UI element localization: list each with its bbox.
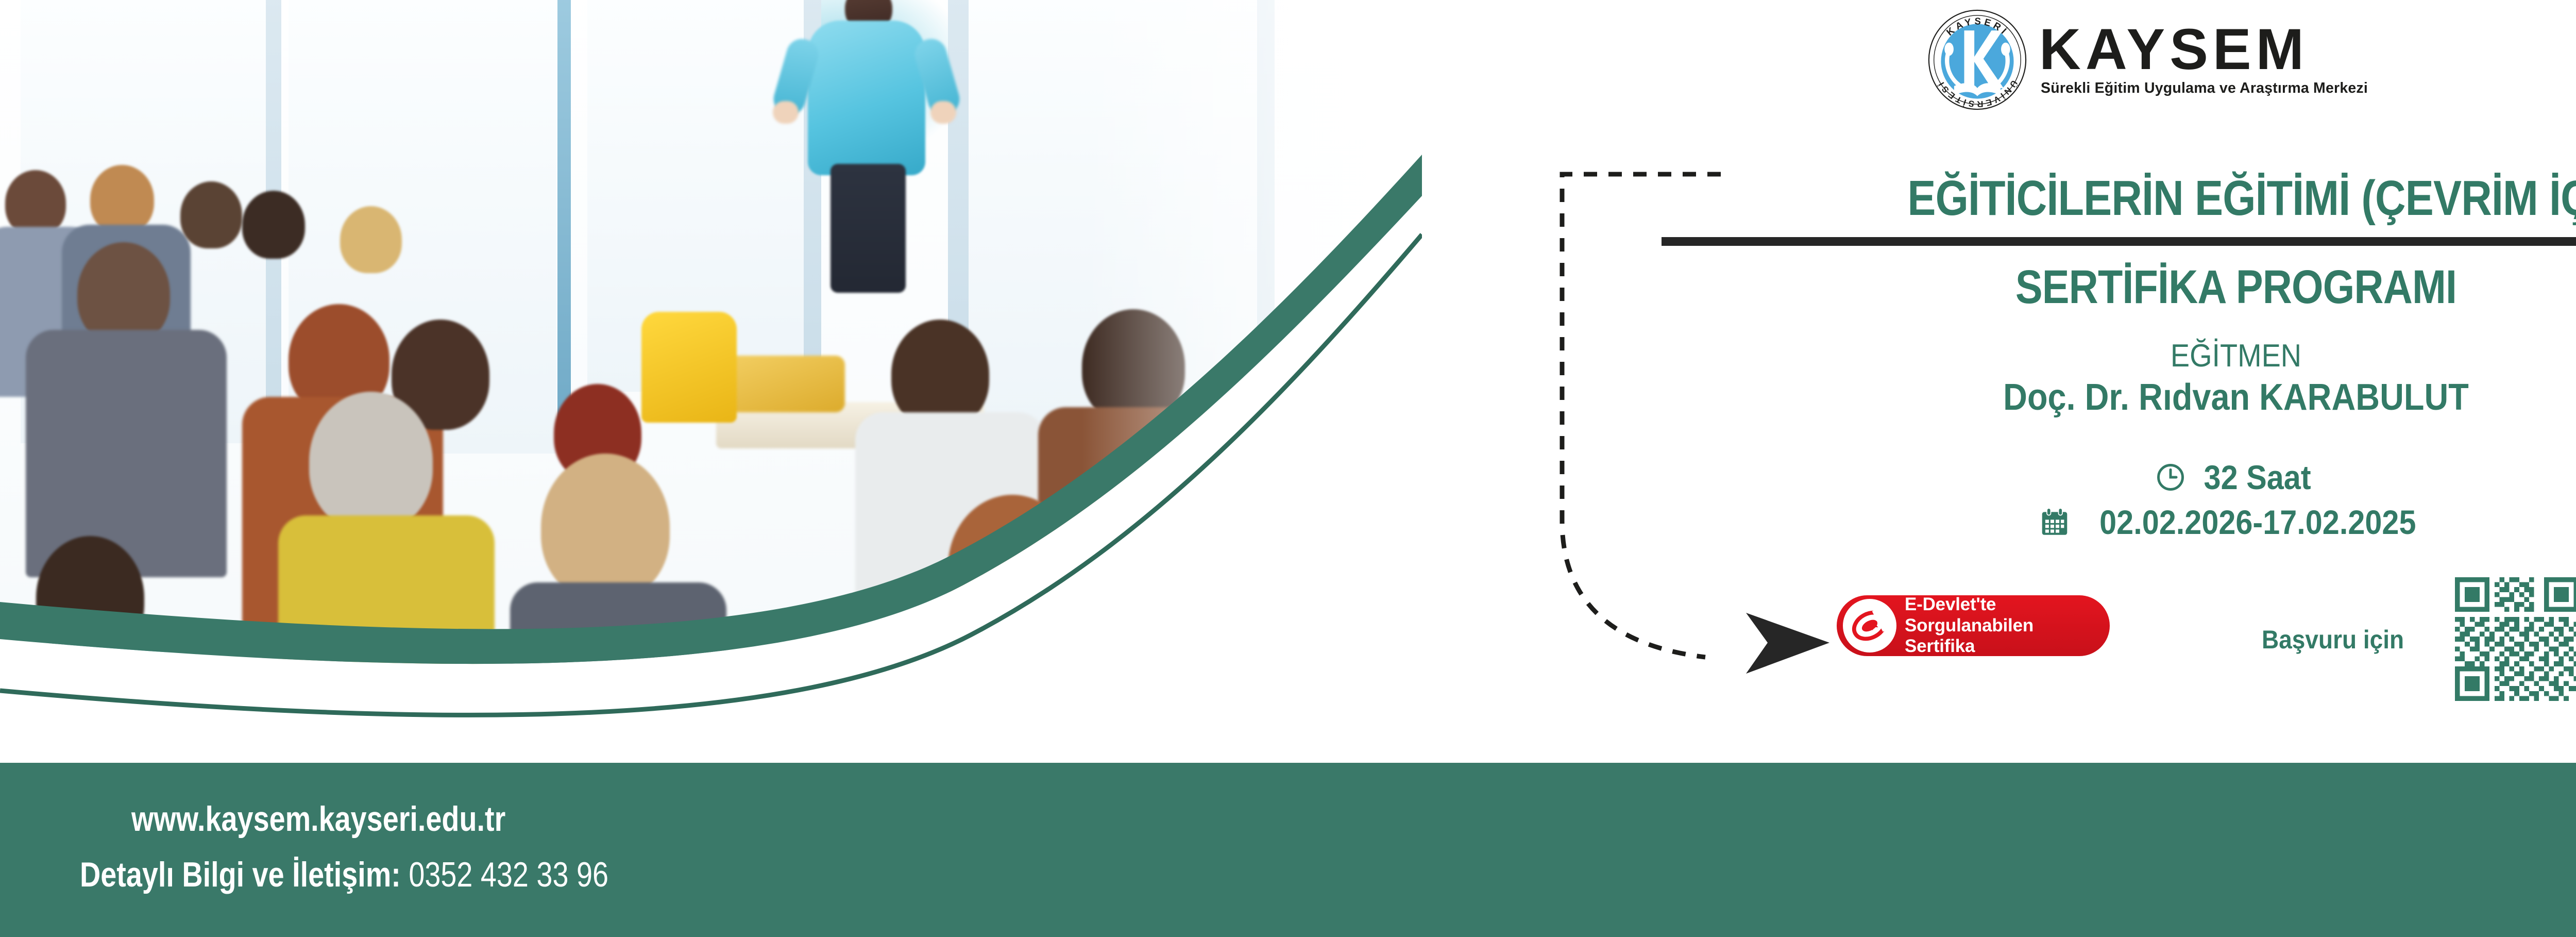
title-divider bbox=[1662, 237, 2576, 246]
audience-head bbox=[36, 536, 144, 660]
footer-website[interactable]: www.kaysem.kayseri.edu.tr bbox=[131, 799, 505, 839]
edevlet-badge-line1: E-Devlet'te Sorgulanabilen bbox=[1905, 594, 2110, 636]
audience-head bbox=[948, 495, 1077, 639]
audience-head bbox=[90, 165, 154, 234]
edevlet-certificate-badge[interactable]: E-Devlet'te Sorgulanabilen Sertifika bbox=[1837, 595, 2110, 656]
course-hours-value: 32 Saat bbox=[2204, 458, 2311, 497]
window-mullion bbox=[557, 0, 571, 443]
promo-banner: KAYSERİ ÜNİVERSİTESİ KAYSEM Sürekli Eğit… bbox=[0, 0, 2576, 937]
audience-body bbox=[26, 330, 227, 577]
audience-head bbox=[242, 191, 305, 259]
course-hours-row: 32 Saat bbox=[1662, 458, 2576, 497]
apply-label: Başvuru için bbox=[2262, 625, 2404, 655]
presenter-hand-left bbox=[773, 101, 799, 124]
audience-head bbox=[180, 181, 242, 248]
kaysem-subtitle: Sürekli Eğitim Uygulama ve Araştırma Mer… bbox=[2041, 80, 2368, 97]
chair bbox=[721, 356, 845, 412]
audience-head bbox=[5, 170, 66, 236]
presenter-legs bbox=[831, 164, 906, 293]
course-dates-row: 02.02.2026-17.02.2025 bbox=[1662, 503, 2576, 542]
footer-bar: www.kaysem.kayseri.edu.tr Detaylı Bilgi … bbox=[0, 763, 2576, 937]
presenter-figure bbox=[783, 0, 948, 289]
kaysem-logo: KAYSERİ ÜNİVERSİTESİ KAYSEM Sürekli Eğit… bbox=[1927, 9, 2368, 110]
arrow-right-icon bbox=[1744, 606, 1832, 678]
qr-code-icon[interactable] bbox=[2455, 577, 2576, 701]
photo-fade-right bbox=[1082, 0, 1401, 768]
instructor-label: EĞİTMEN bbox=[1719, 338, 2576, 374]
audience-head bbox=[340, 206, 402, 273]
kayseri-university-seal-icon: KAYSERİ ÜNİVERSİTESİ bbox=[1927, 9, 2028, 110]
photo-fade-bottom bbox=[0, 680, 1401, 768]
edevlet-badge-line2: Sertifika bbox=[1905, 636, 2110, 657]
footer-contact-phone: 0352 432 33 96 bbox=[409, 855, 608, 894]
audience-head bbox=[309, 392, 433, 531]
edevlet-crescent-star-icon bbox=[1843, 599, 1896, 652]
clock-icon bbox=[2155, 461, 2187, 493]
kaysem-wordmark-block: KAYSEM Sürekli Eğitim Uygulama ve Araştı… bbox=[2039, 23, 2368, 96]
presenter-torso bbox=[808, 21, 925, 175]
calendar-icon bbox=[2039, 506, 2071, 538]
chair bbox=[641, 312, 737, 423]
audience-head bbox=[541, 454, 670, 600]
program-title-line2: SERTİFİKA PROGRAMI bbox=[1742, 260, 2576, 314]
course-dates-value: 02.02.2026-17.02.2025 bbox=[2099, 503, 2416, 542]
program-title-line1: EĞİTİCİLERİN EĞİTİMİ (ÇEVRİM İÇİ) bbox=[1745, 170, 2576, 227]
kaysem-wordmark: KAYSEM bbox=[2039, 23, 2368, 76]
footer-contact: Detaylı Bilgi ve İletişim: 0352 432 33 9… bbox=[80, 855, 608, 895]
hero-photo bbox=[0, 0, 1401, 768]
presenter-hand-right bbox=[930, 101, 956, 124]
footer-contact-label: Detaylı Bilgi ve İletişim: bbox=[80, 855, 401, 894]
instructor-name: Doç. Dr. Rıdvan KARABULUT bbox=[1719, 376, 2576, 419]
edevlet-badge-text: E-Devlet'te Sorgulanabilen Sertifika bbox=[1905, 594, 2110, 657]
